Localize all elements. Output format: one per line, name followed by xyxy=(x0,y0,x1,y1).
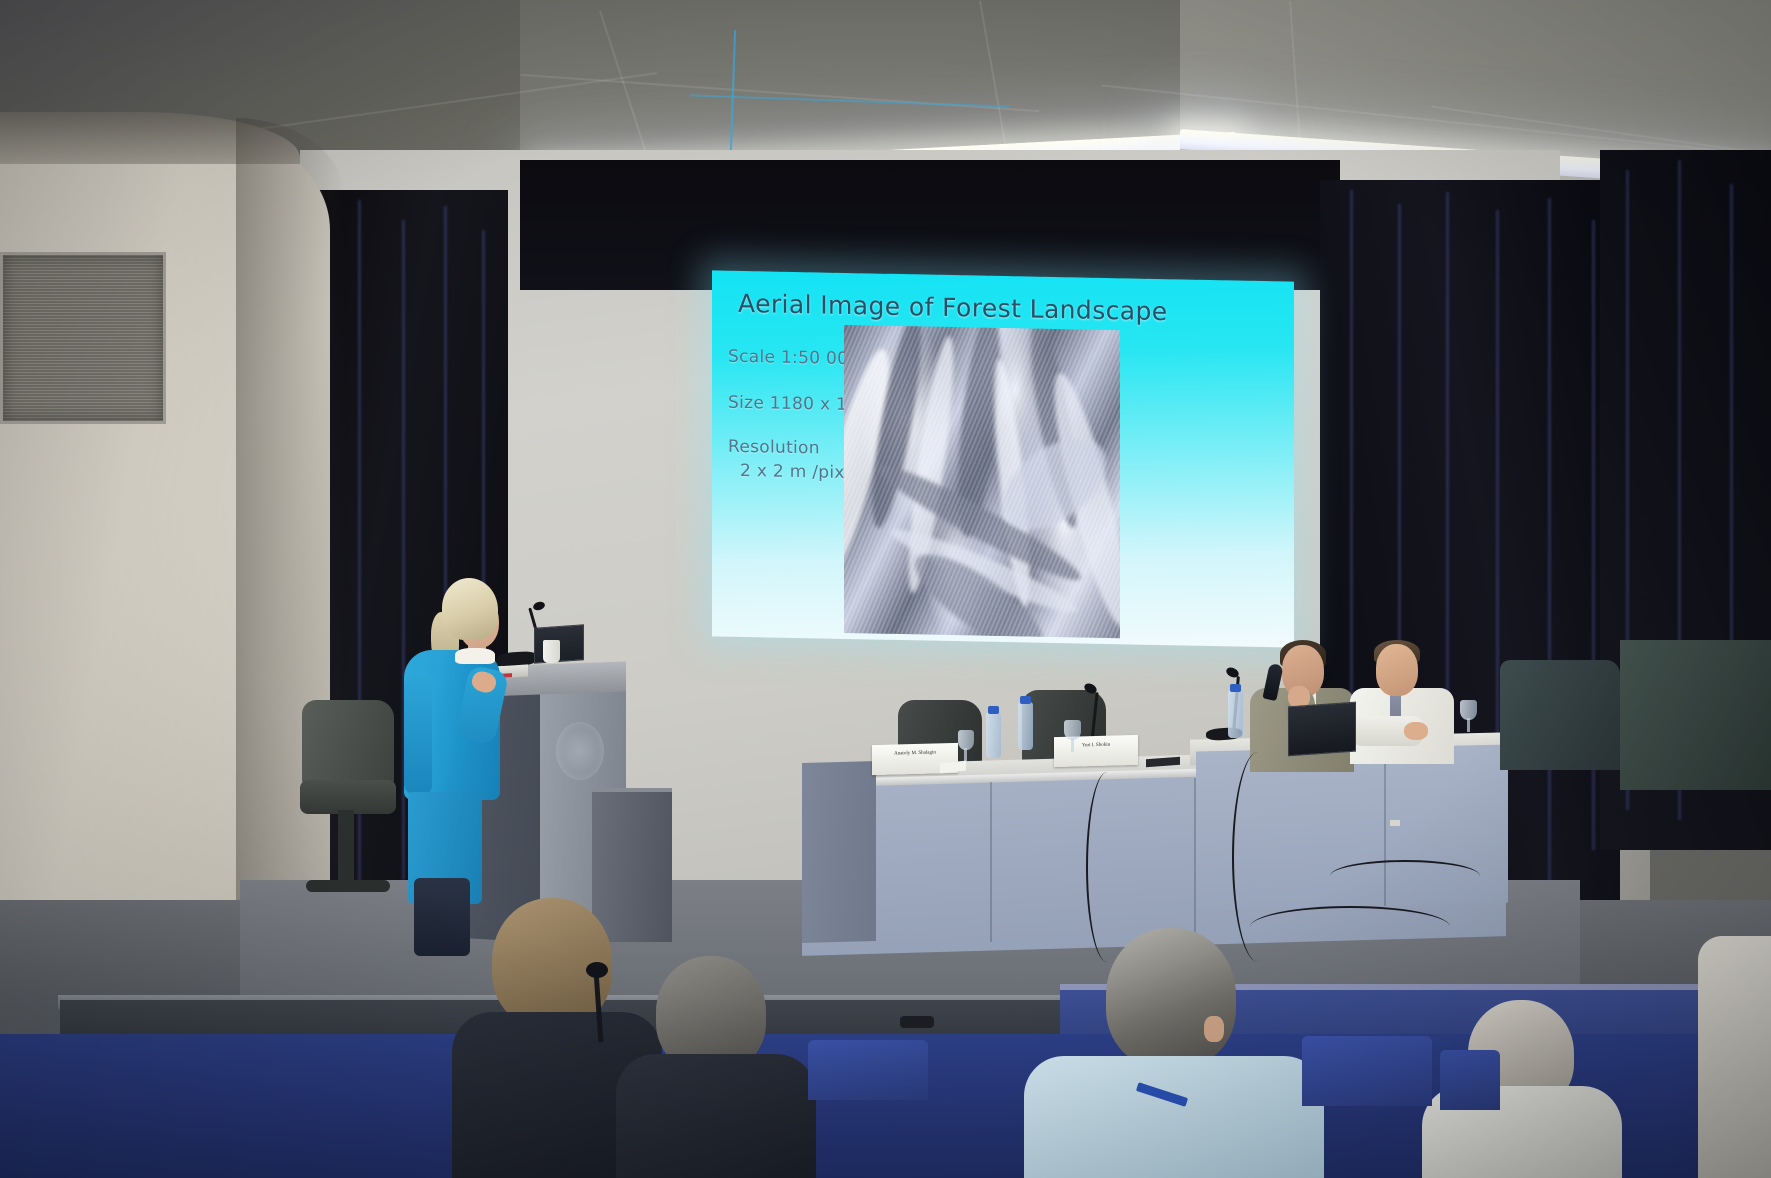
table-panel-seam xyxy=(990,782,992,942)
seat-back xyxy=(808,1040,928,1100)
cable-tie xyxy=(1390,820,1400,826)
glass-stem xyxy=(1467,718,1470,732)
slide-text-resolution-label: Resolution xyxy=(728,437,820,459)
chair-backrest xyxy=(302,700,394,786)
chair-base xyxy=(306,880,390,892)
drinking-glass xyxy=(1064,720,1081,740)
stage-curtain-top xyxy=(520,160,1340,290)
seat-back xyxy=(1302,1036,1432,1106)
podium-base xyxy=(592,792,672,942)
slide-text-scale: Scale 1:50 000 xyxy=(728,347,859,370)
audience-member-edge xyxy=(1698,936,1771,1178)
bottle-cap xyxy=(988,706,999,714)
equipment-box xyxy=(900,1016,934,1028)
bottle-cap xyxy=(1230,684,1241,692)
cable xyxy=(1250,906,1450,948)
nameplate-2-text: Yuri I. Shokin xyxy=(1082,743,1110,749)
water-bottle xyxy=(986,712,1001,758)
panelist-2-head xyxy=(1376,644,1418,696)
sofa xyxy=(1500,660,1620,770)
podium-emblem-icon xyxy=(556,722,604,780)
slide-text-resolution-value: 2 x 2 m /pixel xyxy=(740,461,860,483)
water-bottle xyxy=(1018,702,1033,750)
speaker-grille-icon xyxy=(0,252,166,424)
drinking-glass xyxy=(958,730,974,750)
drinking-glass xyxy=(1460,700,1477,720)
nameplate-1-text: Anatoly M. Shalagin xyxy=(894,750,936,756)
table-left-side-panel xyxy=(802,761,876,943)
panelist-2-hand xyxy=(1404,722,1428,740)
seat-back xyxy=(1440,1050,1500,1110)
audience-hair xyxy=(1106,928,1236,1068)
presenter-collar xyxy=(455,648,495,664)
bottle-cap xyxy=(1020,696,1031,704)
paper-cup xyxy=(543,640,560,663)
cable xyxy=(1086,772,1128,962)
table-panel-seam xyxy=(1194,778,1196,942)
water-bottle xyxy=(1228,690,1243,738)
sofa-right xyxy=(1620,640,1771,790)
glass-stem xyxy=(1071,738,1074,752)
audience-shoulders xyxy=(616,1054,816,1178)
chair-seat xyxy=(300,780,396,814)
audience-ear xyxy=(1204,1016,1224,1042)
presenter-hair xyxy=(442,578,498,640)
microphone-head-icon xyxy=(586,962,608,978)
projected-slide: Aerial Image of Forest Landscape Scale 1… xyxy=(712,270,1294,647)
nameplate-2: Yuri I. Shokin xyxy=(1054,735,1138,767)
chair-post xyxy=(338,810,354,886)
presenter-legs xyxy=(414,878,470,956)
audience-shirt xyxy=(1024,1056,1324,1178)
aerial-photograph-image xyxy=(844,325,1120,638)
slide-title: Aerial Image of Forest Landscape xyxy=(738,289,1278,328)
panel-laptop[interactable] xyxy=(1288,702,1356,757)
presenter-left-arm xyxy=(404,672,432,794)
conference-room-photo: Aerial Image of Forest Landscape Scale 1… xyxy=(0,0,1771,1178)
cable xyxy=(1330,860,1480,892)
